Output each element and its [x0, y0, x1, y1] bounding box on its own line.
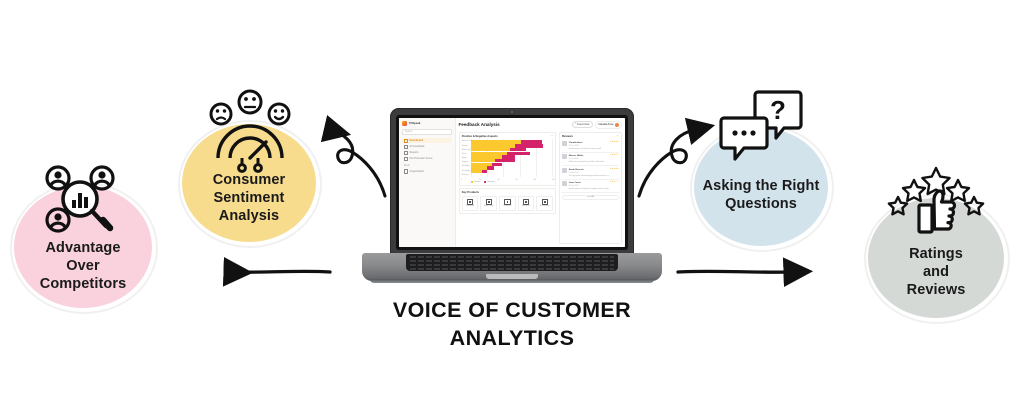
- review-stars: ★★★☆☆: [610, 181, 619, 183]
- avatar: [615, 123, 619, 127]
- review-text: Great features and intuitive setup overa…: [569, 148, 602, 150]
- product-name: Product B: [503, 206, 511, 208]
- review-item: Liam Carter08 Jun 2024★★★☆☆Good hardware…: [562, 180, 619, 193]
- chart-bar-negative: [510, 148, 526, 151]
- inbox-icon: [404, 145, 408, 149]
- arrow-straight-to-advantage: [230, 271, 330, 272]
- chart-bar-negative: [487, 166, 494, 169]
- products-title: Key Products: [462, 191, 479, 194]
- review-item: Marcus Waller11 Jun 2024★★★★☆Solid value…: [562, 153, 619, 166]
- product-name: Product A: [466, 206, 474, 208]
- review-date: 08 Jun 2024: [569, 185, 579, 187]
- laptop-screen: YOSpeak Search Dashboard All Feedback: [399, 118, 625, 247]
- title-line-1: VOICE OF CUSTOMER: [312, 296, 712, 324]
- review-stars: ★★★★★: [610, 141, 619, 143]
- node-label-line-1: Asking the Right: [691, 178, 831, 196]
- chart-plot-area: [471, 139, 552, 177]
- sidebar-item-label: Net Promoter Score: [409, 157, 432, 160]
- chart-card: Positive & Negative Aspects •••: [459, 132, 557, 186]
- building-icon: [404, 169, 408, 173]
- node-label-line-1: Ratings: [907, 246, 966, 264]
- webcam-icon: [511, 111, 513, 113]
- node-label: Advantage Over Competitors: [40, 240, 127, 294]
- node-label-line-3: Competitors: [40, 276, 127, 294]
- review-item: Sarah Bennett09 Jun 2024★★★★★The app mad…: [562, 166, 619, 179]
- thumbs-up-stars-icon: [890, 166, 982, 244]
- chart-y-tick-label: Packaging: [462, 170, 471, 172]
- chart-x-tick-label: 40: [497, 179, 499, 181]
- load-all-button[interactable]: Load All: [562, 195, 619, 201]
- chart-title: Positive & Negative Aspects: [462, 135, 498, 138]
- chart-x-tick-label: 20: [479, 179, 481, 181]
- legend-swatch: [484, 181, 486, 183]
- chart-y-tick-label: Support: [462, 161, 469, 163]
- node-advantage-over-competitors[interactable]: Advantage Over Competitors: [8, 168, 158, 308]
- laptop-foot: [370, 279, 654, 283]
- dashboard-app: YOSpeak Search Dashboard All Feedback: [399, 118, 625, 247]
- node-label-line-1: Consumer: [213, 172, 286, 190]
- review-item: Claudia Anne12 Jun 2024★★★★★Great featur…: [562, 139, 619, 152]
- product-icon: [504, 199, 510, 205]
- page-title-voice-of-customer: VOICE OF CUSTOMER ANALYTICS: [312, 296, 712, 353]
- svg-text:?: ?: [770, 95, 786, 125]
- chart-x-tick-label: 60: [515, 179, 517, 181]
- review-stars: ★★★★★: [610, 168, 619, 170]
- node-label-line-2: Sentiment: [213, 190, 286, 208]
- chart-x-tick-label: 100: [552, 179, 555, 181]
- node-label: Asking the Right Questions: [691, 178, 831, 214]
- review-author: Claudia Anne: [569, 142, 583, 144]
- sentiment-gauge-faces-icon: [204, 88, 296, 172]
- review-avatar: [562, 181, 567, 186]
- chart-bar-negative: [482, 170, 487, 173]
- chart-y-tick-label: Durability: [462, 165, 470, 167]
- review-avatar: [562, 168, 567, 173]
- user-menu[interactable]: Claudia Anne: [595, 121, 622, 129]
- node-label-line-2: Questions: [691, 196, 831, 214]
- header-actions: ⭳ Export Data Claudia Anne: [572, 121, 622, 129]
- legend-item-negative: Negative: [484, 181, 494, 183]
- sidebar-item-label: Reports: [409, 151, 418, 154]
- review-author: Sarah Bennett: [569, 169, 584, 171]
- chart-bar-positive: [471, 170, 482, 173]
- review-text: The app made onboarding genuinely simple…: [569, 175, 609, 177]
- node-label-line-3: Reviews: [907, 282, 966, 300]
- node-label-line-2: Over: [40, 258, 127, 276]
- grid-icon: [404, 139, 408, 143]
- question-speech-bubbles-icon: ?: [718, 88, 804, 168]
- product-name: Smart Lamp: [484, 206, 494, 208]
- review-text: Good hardware, though the support wait w…: [569, 188, 609, 190]
- sidebar-item-net-promoter-score[interactable]: Net Promoter Score: [402, 156, 452, 161]
- product-icon: [467, 199, 473, 205]
- node-label-line-3: Analysis: [213, 208, 286, 226]
- arrow-straight-to-ratings: [678, 271, 790, 272]
- sidebar-item-label: Organization: [409, 170, 424, 173]
- laptop-mockup: YOSpeak Search Dashboard All Feedback: [362, 108, 662, 288]
- reviews-title: Reviews: [562, 135, 573, 138]
- product-icon: [486, 199, 492, 205]
- sidebar-item-organization[interactable]: Organization: [402, 169, 452, 174]
- node-label-line-1: Advantage: [40, 240, 127, 258]
- legend-label: Negative: [487, 181, 494, 183]
- chart-menu-icon[interactable]: •••: [551, 135, 553, 137]
- product-card[interactable]: Smart Lamp: [480, 196, 497, 211]
- brand-logo-icon: [402, 121, 407, 126]
- right-column: Reviews ••• Claudia Anne12 Jun 2024★★★★★…: [559, 132, 622, 244]
- reviews-menu-icon[interactable]: •••: [617, 135, 619, 137]
- legend-swatch: [471, 181, 473, 183]
- product-card[interactable]: Accessories: [536, 196, 553, 211]
- legend-item-positive: Positive: [471, 181, 481, 183]
- sidebar-item-label: All Feedback: [409, 145, 424, 148]
- brand-name: YOSpeak: [409, 122, 421, 125]
- sidebar-item-label: Dashboard: [409, 139, 423, 142]
- chart-bar-positive: [471, 159, 495, 162]
- chart-y-tick-label: Design: [462, 145, 468, 147]
- dashboard-content: Positive & Negative Aspects •••: [459, 132, 623, 244]
- chart-y-tick-label: Setup: [462, 157, 467, 159]
- review-date: 12 Jun 2024: [569, 145, 579, 147]
- page-title: Feedback Analysis: [459, 122, 500, 127]
- diverging-bar-chart: Positive Negative 02040608010: [462, 139, 553, 182]
- node-ratings-and-reviews[interactable]: Ratings and Reviews: [862, 180, 1010, 312]
- product-card[interactable]: Sensor Kit: [518, 196, 535, 211]
- sidebar-section-title: Tools: [404, 164, 452, 167]
- sidebar-item-reports[interactable]: Reports: [402, 150, 452, 155]
- node-asking-the-right-questions[interactable]: ? Asking the Right Questions: [688, 110, 834, 240]
- chart-y-tick-label: Ease of use: [462, 140, 472, 142]
- node-label: Consumer Sentiment Analysis: [213, 172, 286, 226]
- laptop-lid: YOSpeak Search Dashboard All Feedback: [390, 108, 634, 256]
- sidebar-item-dashboard[interactable]: Dashboard: [402, 138, 452, 143]
- chart-bar-negative: [495, 159, 515, 162]
- gauge-icon: [404, 157, 408, 161]
- reviews-card-header: Reviews •••: [562, 135, 619, 138]
- sidebar-item-all-feedback[interactable]: All Feedback: [402, 144, 452, 149]
- product-name: Accessories: [540, 206, 550, 208]
- product-icon: [523, 199, 529, 205]
- node-label: Ratings and Reviews: [907, 246, 966, 300]
- laptop-keyboard: [406, 254, 618, 271]
- products-card: Key Products Product ASmart LampProduct …: [459, 188, 557, 214]
- people-analytics-magnifier-icon: [34, 160, 130, 240]
- export-label: Export Data: [577, 124, 589, 126]
- review-list: Claudia Anne12 Jun 2024★★★★★Great featur…: [562, 139, 619, 193]
- product-list: Product ASmart LampProduct BSensor KitAc…: [462, 196, 553, 211]
- review-author: Liam Carter: [569, 182, 581, 184]
- report-icon: [404, 151, 408, 155]
- review-avatar: [562, 141, 567, 146]
- review-text: Solid value, battery life could be a lit…: [569, 161, 605, 163]
- chart-y-tick-label: Battery life: [462, 149, 471, 151]
- chart-y-tick-label: Delivery: [462, 174, 469, 176]
- chart-bar-positive: [471, 148, 510, 151]
- node-label-line-2: and: [907, 264, 966, 282]
- dashboard-sidebar: YOSpeak Search Dashboard All Feedback: [399, 118, 456, 247]
- review-date: 09 Jun 2024: [569, 172, 579, 174]
- chart-x-tick-label: 80: [534, 179, 536, 181]
- left-column: Positive & Negative Aspects •••: [459, 132, 557, 244]
- title-line-2: ANALYTICS: [312, 324, 712, 352]
- chart-card-header: Positive & Negative Aspects •••: [462, 135, 553, 138]
- dashboard-header: Feedback Analysis ⭳ Export Data Claudia …: [459, 121, 623, 129]
- product-icon: [542, 199, 548, 205]
- chart-x-tick-label: 0: [461, 179, 462, 181]
- reviews-card: Reviews ••• Claudia Anne12 Jun 2024★★★★★…: [559, 132, 622, 244]
- laptop-bezel: YOSpeak Search Dashboard All Feedback: [396, 115, 628, 250]
- export-icon: ⭳: [575, 123, 576, 126]
- dashboard-main: Feedback Analysis ⭳ Export Data Claudia …: [456, 118, 626, 247]
- sidebar-search-input[interactable]: Search: [402, 129, 452, 135]
- review-avatar: [562, 154, 567, 159]
- chart-legend: Positive Negative: [471, 181, 495, 183]
- node-consumer-sentiment-analysis[interactable]: Consumer Sentiment Analysis: [178, 106, 320, 238]
- brand: YOSpeak: [402, 121, 452, 126]
- product-card[interactable]: Product A: [462, 196, 479, 211]
- product-card[interactable]: Product B: [499, 196, 516, 211]
- product-name: Sensor Kit: [522, 206, 530, 208]
- legend-label: Positive: [474, 181, 481, 183]
- products-card-header: Key Products: [462, 191, 553, 194]
- chart-y-tick-label: Price: [462, 153, 466, 155]
- user-name: Claudia Anne: [598, 123, 613, 126]
- infographic-canvas: Advantage Over Competitors: [0, 0, 1024, 412]
- export-data-button[interactable]: ⭳ Export Data: [572, 121, 593, 128]
- review-stars: ★★★★☆: [610, 154, 619, 156]
